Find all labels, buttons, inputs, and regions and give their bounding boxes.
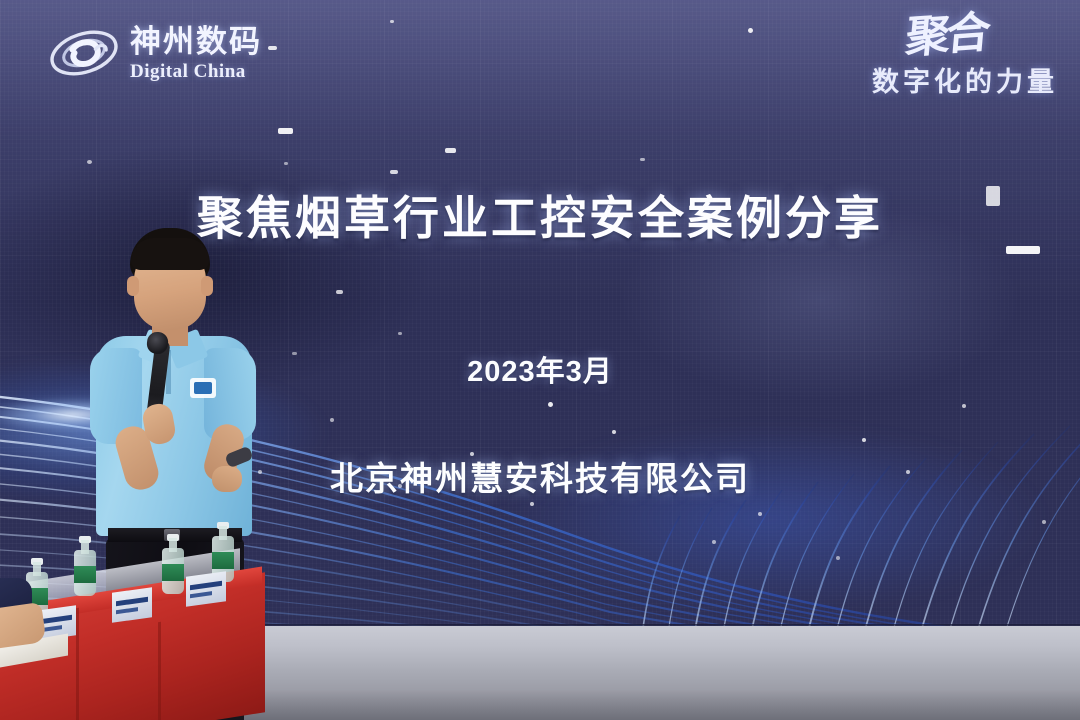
speaker-hand-right [212,466,242,492]
digital-china-logo: 神州数码 Digital China [48,22,262,84]
speaker-hair-front [131,238,209,270]
digital-china-swirl-logo-icon [48,22,120,84]
water-bottle [74,536,96,596]
brandmark-tagline: 数字化的力量 [872,60,1058,99]
table-drape-fold [158,622,161,720]
table-drape-fold [76,608,79,720]
conference-photo: 神州数码 Digital China 聚合 数字化的力量 聚焦烟草行业工控安全案… [0,0,1080,720]
speaker-ear-right [201,276,213,296]
name-card [112,587,152,623]
water-bottle [162,534,184,594]
logo-text: 神州数码 Digital China [130,26,262,81]
speaker-chest-logo [190,378,216,398]
logo-english-name: Digital China [130,62,262,81]
event-brandmark: 聚合 数字化的力量 [872,16,1058,99]
name-card [186,571,226,607]
speaker-ear-left [127,276,139,296]
logo-chinese-name: 神州数码 [130,26,262,57]
brandmark-calligraphy: 聚合 [870,12,989,62]
front-row-table [0,548,290,720]
